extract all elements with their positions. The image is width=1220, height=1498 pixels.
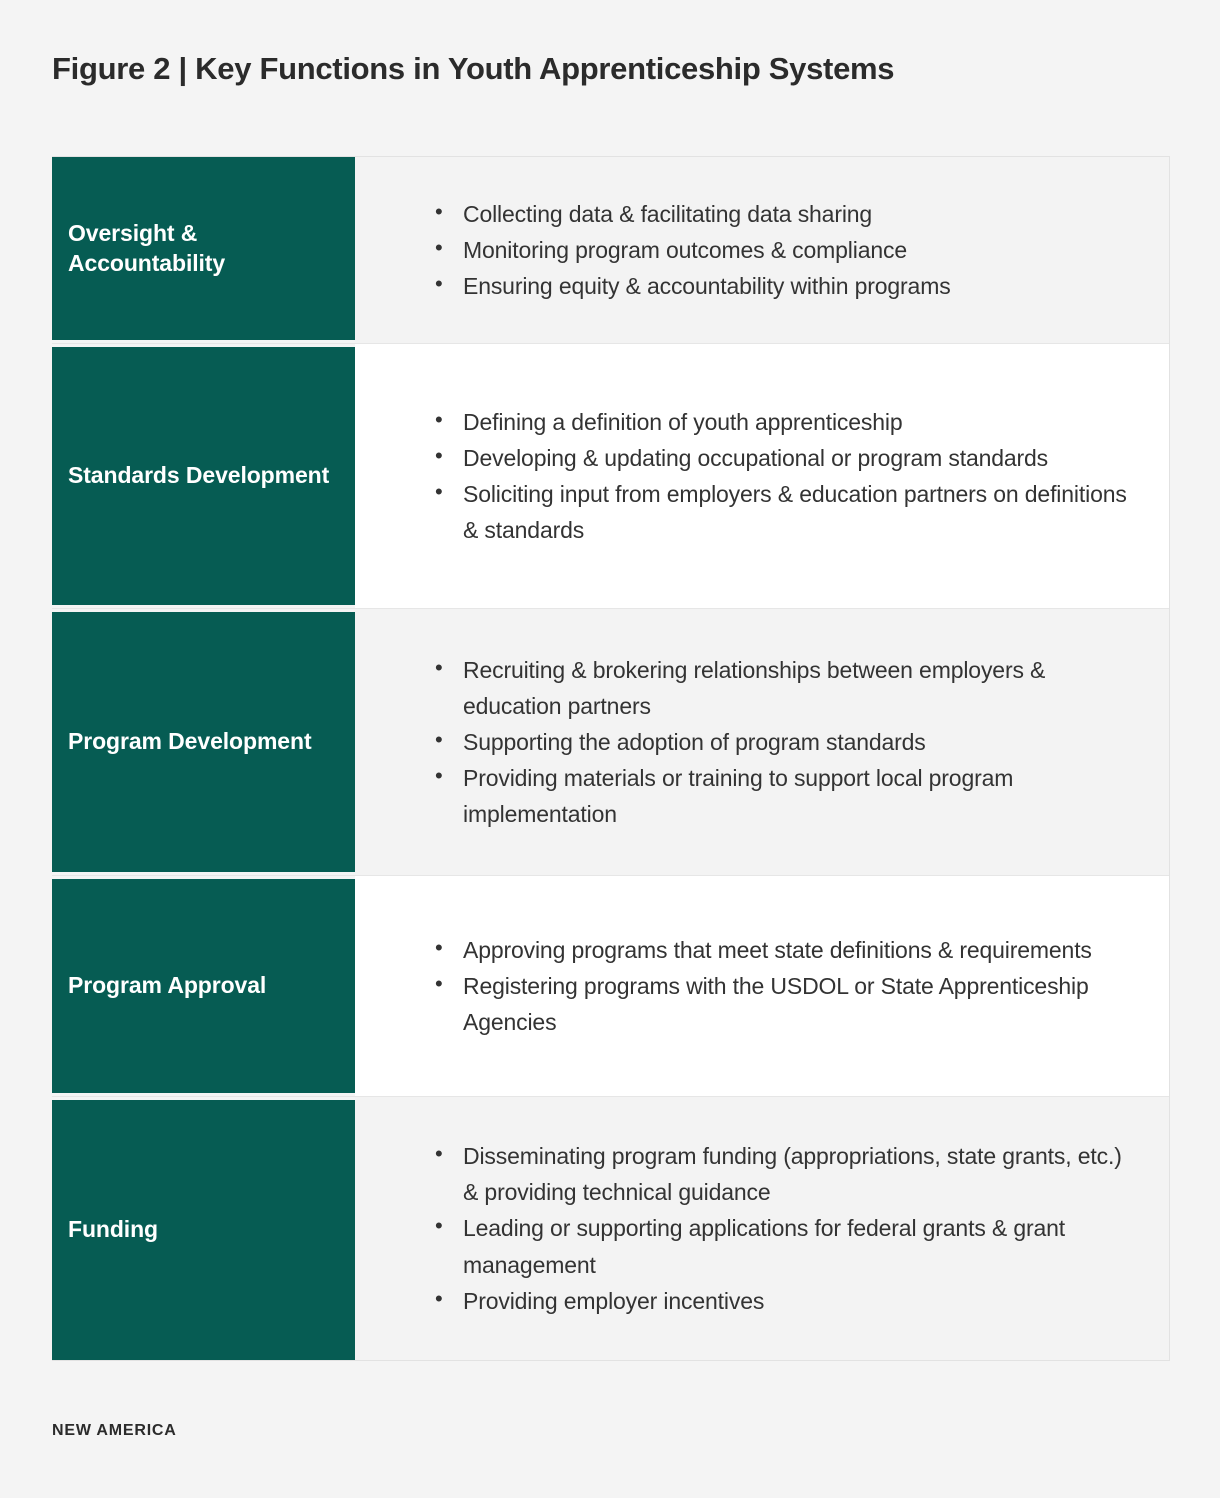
table-row: Program Approval Approving programs that…	[52, 875, 1169, 1096]
function-label-cell-oversight-accountability: Oversight & Accountability	[52, 157, 355, 340]
list-item: Disseminating program funding (appropria…	[433, 1138, 1135, 1210]
function-label-cell-program-development: Program Development	[52, 612, 355, 872]
bullet-list: Approving programs that meet state defin…	[433, 932, 1135, 1040]
function-detail-cell: Collecting data & facilitating data shar…	[355, 157, 1169, 343]
list-item: Providing employer incentives	[433, 1283, 1135, 1319]
function-label: Standards Development	[68, 461, 329, 490]
bullet-list: Collecting data & facilitating data shar…	[433, 196, 1135, 304]
list-item: Ensuring equity & accountability within …	[433, 268, 1135, 304]
bullet-list: Recruiting & brokering relationships bet…	[433, 652, 1135, 833]
function-label: Program Approval	[68, 971, 266, 1000]
list-item: Defining a definition of youth apprentic…	[433, 404, 1135, 440]
function-label-cell-standards-development: Standards Development	[52, 347, 355, 605]
function-detail-cell: Recruiting & brokering relationships bet…	[355, 609, 1169, 875]
list-item: Providing materials or training to suppo…	[433, 760, 1135, 832]
organization-brand: NEW AMERICA	[52, 1422, 177, 1440]
function-label-cell-funding: Funding	[52, 1100, 355, 1360]
page-title: Figure 2 | Key Functions in Youth Appren…	[52, 50, 1172, 89]
bullet-list: Disseminating program funding (appropria…	[433, 1138, 1135, 1319]
table-row: Standards Development Defining a definit…	[52, 343, 1169, 608]
list-item: Recruiting & brokering relationships bet…	[433, 652, 1135, 724]
function-detail-cell: Defining a definition of youth apprentic…	[355, 344, 1169, 608]
function-label: Program Development	[68, 727, 312, 756]
table-row: Program Development Recruiting & brokeri…	[52, 608, 1169, 875]
list-item: Soliciting input from employers & educat…	[433, 476, 1135, 548]
list-item: Registering programs with the USDOL or S…	[433, 968, 1135, 1040]
function-label: Oversight & Accountability	[68, 219, 337, 278]
list-item: Developing & updating occupational or pr…	[433, 440, 1135, 476]
list-item: Approving programs that meet state defin…	[433, 932, 1135, 968]
list-item: Leading or supporting applications for f…	[433, 1210, 1135, 1282]
list-item: Monitoring program outcomes & compliance	[433, 232, 1135, 268]
function-detail-cell: Disseminating program funding (appropria…	[355, 1097, 1169, 1360]
list-item: Supporting the adoption of program stand…	[433, 724, 1135, 760]
bullet-list: Defining a definition of youth apprentic…	[433, 404, 1135, 548]
key-functions-table: Oversight & Accountability Collecting da…	[52, 156, 1170, 1361]
list-item: Collecting data & facilitating data shar…	[433, 196, 1135, 232]
figure-page: Figure 2 | Key Functions in Youth Appren…	[0, 0, 1220, 1498]
table-row: Oversight & Accountability Collecting da…	[52, 157, 1169, 343]
function-label: Funding	[68, 1215, 158, 1244]
function-label-cell-program-approval: Program Approval	[52, 879, 355, 1093]
table-row: Funding Disseminating program funding (a…	[52, 1096, 1169, 1360]
function-detail-cell: Approving programs that meet state defin…	[355, 876, 1169, 1096]
